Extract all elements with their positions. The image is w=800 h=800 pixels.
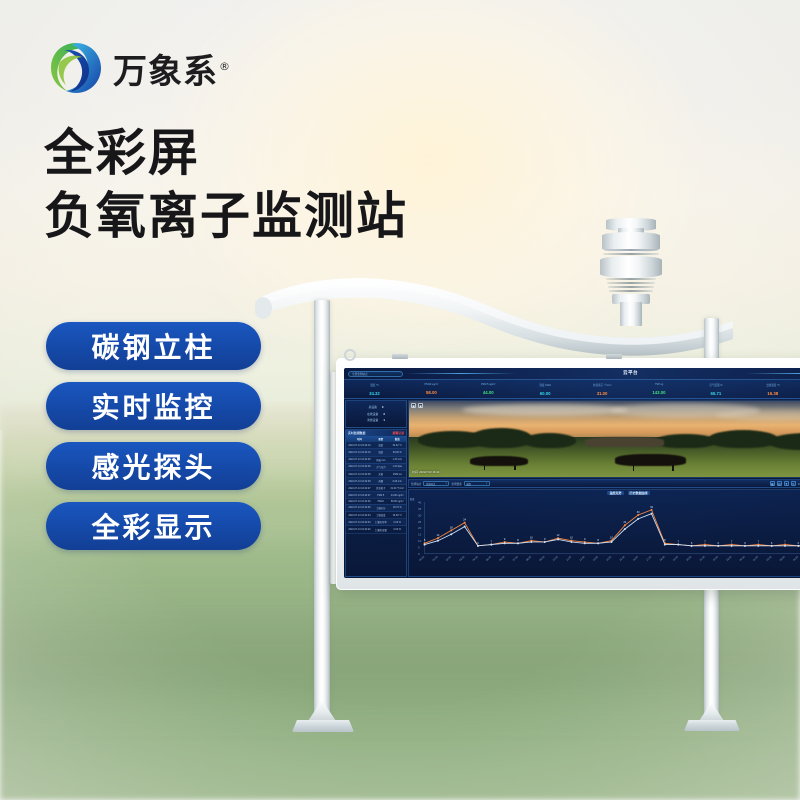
cow-2 bbox=[615, 454, 685, 465]
realtime-data-table: 时间要素数值 2022-07-13 16:42:10温度34.32 ℃2022-… bbox=[346, 436, 406, 534]
metric-1: 温度 ℃34.32 bbox=[346, 381, 403, 398]
chart-point bbox=[504, 542, 506, 544]
realtime-data-panel: 实时监测数据 报警记录 时间要素数值 2022-07-13 16:42:10温度… bbox=[345, 429, 407, 577]
chart-xtick: 10:00 bbox=[552, 555, 559, 562]
headline-block: 全彩屏 负氧离子监测站 bbox=[44, 122, 408, 248]
chart-point-label: 6 bbox=[798, 541, 800, 545]
stat-label-3: 离线设备 bbox=[367, 418, 378, 422]
screen-body: 总设备3在线设备2离线设备1 实时监测数据 报警记录 时间要素数值 2022-0… bbox=[344, 399, 800, 578]
table-row[interactable]: 2022-07-13 16:42:05土壤水分18.70 % bbox=[346, 504, 406, 511]
metric-value-5: 31.00 bbox=[574, 391, 631, 396]
chart-point-label: 6 bbox=[744, 541, 746, 545]
chart-xtick: 01:00 bbox=[432, 555, 439, 562]
table-cell: 雨量 bbox=[373, 478, 389, 485]
chart-xtick: 05:00 bbox=[485, 555, 492, 562]
chart-point bbox=[717, 545, 719, 547]
realtime-data-title: 实时监测数据 bbox=[348, 431, 365, 435]
control-label-element: 监测要素 bbox=[451, 482, 461, 486]
table-cell: 2022-07-13 16:42:08 bbox=[346, 470, 373, 477]
chart-xtick: 17:00 bbox=[646, 555, 653, 562]
table-cell: 2022-07-13 16:42:08 bbox=[346, 478, 373, 485]
feature-pill-2: 实时监控 bbox=[46, 382, 261, 430]
headline-line-1: 全彩屏 bbox=[44, 122, 408, 185]
chart-point-label: 7 bbox=[784, 539, 786, 543]
table-cell: 光照 bbox=[373, 470, 389, 477]
chart-point-label: 24 bbox=[463, 518, 466, 522]
chart-point bbox=[477, 545, 479, 547]
chart-point bbox=[771, 545, 773, 547]
table-cell: 温度 bbox=[373, 442, 389, 449]
tree-4 bbox=[655, 434, 716, 448]
stat-label-1: 总设备 bbox=[369, 405, 377, 409]
table-row[interactable]: 2022-07-13 16:42:08雨量0.00 mm bbox=[346, 478, 406, 485]
chart-point-label: 30 bbox=[637, 510, 640, 514]
chart-point-label: 7 bbox=[704, 539, 706, 543]
control-label-station: 监测站点 bbox=[411, 482, 421, 486]
table-row[interactable]: 2022-07-13 16:42:10温度34.32 ℃ bbox=[346, 442, 406, 449]
chart-point bbox=[584, 542, 586, 544]
stat-value-3: 1 bbox=[383, 418, 385, 422]
chart-point bbox=[450, 529, 452, 531]
chart-xtick: 23:00 bbox=[726, 555, 733, 562]
led-screen: 全部监测站点 云平台 管理员 admin 退出 温度 ℃34.32PM10 ug… bbox=[344, 368, 800, 578]
chart-point bbox=[464, 526, 466, 528]
table-cell: 16.38 ℃ bbox=[389, 512, 406, 519]
feature-pill-4: 全彩显示 bbox=[46, 502, 261, 550]
chart-point bbox=[691, 545, 693, 547]
chart-point-label: 10 bbox=[610, 536, 613, 540]
table-cell: 34.32 ℃ bbox=[389, 442, 406, 449]
chart-xtick: 18:00 bbox=[659, 555, 666, 562]
table-cell: 2022-07-13 16:42:09 bbox=[346, 456, 373, 463]
metric-label-4: 湿度 %RH bbox=[517, 383, 574, 387]
chart-point-label: 8 bbox=[517, 538, 519, 542]
cow-1 bbox=[470, 456, 527, 466]
table-cell: 2022-07-13 16:42:05 bbox=[346, 504, 373, 511]
table-cell: 31.00 个/cm³ bbox=[389, 485, 406, 492]
chart-point bbox=[757, 545, 759, 547]
chart-yaxis-label: 数值 bbox=[410, 497, 414, 501]
chart-xtick: 04:00 bbox=[793, 555, 800, 562]
control-select-station[interactable]: 全部站点 ▾ bbox=[423, 481, 449, 487]
metric-6: TSP ug143.00 bbox=[631, 381, 688, 398]
export-icon[interactable]: ▼ bbox=[784, 481, 789, 486]
metric-value-2: 58.00 bbox=[403, 390, 460, 395]
sensor-louver-6 bbox=[609, 290, 653, 292]
chart-point-label: 34 bbox=[650, 505, 653, 509]
chart-point-label: 10 bbox=[530, 536, 533, 540]
metric-4: 湿度 %RH60.00 bbox=[517, 381, 574, 398]
chart-point bbox=[530, 541, 532, 543]
table-cell: 1.00 kpa bbox=[389, 463, 406, 470]
chart-point-label: 6 bbox=[771, 541, 773, 545]
chart-point-label: 7 bbox=[731, 539, 733, 543]
table-cell: 2022-07-13 16:42:03 bbox=[346, 519, 373, 526]
chart-point bbox=[624, 528, 626, 530]
weather-sensor-radiation-shield bbox=[598, 218, 664, 326]
metric-label-2: PM10 ug/m³ bbox=[403, 383, 460, 386]
list-view-icon[interactable]: ▤ bbox=[777, 481, 782, 486]
table-row[interactable]: 2022-07-13 16:42:09大气压力1.00 kpa bbox=[346, 463, 406, 470]
chart-point-label: 22 bbox=[623, 520, 626, 524]
metric-7: 空气质量 %65.71 bbox=[687, 381, 744, 398]
center-column: ▣ ◉ 时间: 2022/7/13 16:42 山西 潞城 监测站点 全部站点 … bbox=[408, 400, 800, 577]
record-icon[interactable]: ◉ bbox=[418, 403, 423, 408]
chart-xtick: 03:00 bbox=[779, 555, 786, 562]
device-stats-rows: 总设备3在线设备2离线设备1 bbox=[346, 401, 406, 427]
chart-point bbox=[517, 542, 519, 544]
table-cell: 2022-07-13 16:42:07 bbox=[346, 485, 373, 492]
metrics-strip: 温度 ℃34.32PM10 ug/m³58.00PM2.5 ug/m³44.00… bbox=[344, 379, 800, 399]
chart-point bbox=[637, 518, 639, 520]
chart-point bbox=[490, 544, 492, 546]
chart-ytick: 20 bbox=[418, 526, 422, 530]
chart-point-label: 10 bbox=[570, 536, 573, 540]
chart-point-label: 9 bbox=[544, 537, 546, 541]
device-stats-panel: 总设备3在线设备2离线设备1 bbox=[345, 400, 407, 428]
table-cell: 大气压力 bbox=[373, 463, 389, 470]
chart-ytick: 40 bbox=[418, 500, 422, 504]
tree-5 bbox=[708, 430, 778, 448]
chart-point bbox=[624, 524, 626, 526]
left-base-plate bbox=[292, 720, 354, 732]
control-select-element-value: 温度 bbox=[466, 482, 471, 486]
chart-controls: 监测站点 全部站点 ▾ 监测要素 温度 ▾ ▦ ▤ ▼ ↻ 2022-07 bbox=[408, 479, 800, 488]
capture-icon[interactable]: ▣ bbox=[411, 403, 416, 408]
table-cell: 土壤水分 bbox=[373, 504, 389, 511]
table-row[interactable]: 2022-07-13 16:42:04土壤温度16.38 ℃ bbox=[346, 512, 406, 519]
table-row[interactable]: 2022-07-13 16:42:03土壤电导率0.00 % bbox=[346, 519, 406, 526]
chart-xtick: 15:00 bbox=[619, 555, 626, 562]
chart-ytick: 30 bbox=[418, 513, 422, 517]
chart-point bbox=[637, 514, 639, 516]
chart-point bbox=[731, 545, 733, 547]
metric-label-6: TSP ug bbox=[631, 383, 688, 386]
chart-xtick: 02:00 bbox=[766, 555, 773, 562]
camera-feed[interactable]: ▣ ◉ 时间: 2022/7/13 16:42 山西 潞城 bbox=[408, 400, 800, 478]
metric-label-7: 空气质量 % bbox=[687, 383, 744, 387]
chart-xtick: 08:00 bbox=[526, 555, 533, 562]
feature-pill-3: 感光探头 bbox=[46, 442, 261, 490]
table-row[interactable]: 2022-07-13 16:42:09风速 m/s1.30 m/s bbox=[346, 456, 406, 463]
chart-ytick: 0 bbox=[418, 552, 420, 556]
chart-plot-area: 数值 0510152025303540812182467981091210981… bbox=[409, 496, 800, 576]
chart-xtick: 22:00 bbox=[712, 555, 719, 562]
metric-value-4: 60.00 bbox=[517, 391, 574, 396]
chart-tag-1: 温度走势 bbox=[607, 491, 623, 495]
table-cell: 1.30 m/s bbox=[389, 456, 406, 463]
chart-xtick: 03:00 bbox=[459, 555, 466, 562]
mount-tab-1 bbox=[392, 354, 408, 359]
device-stat-row-2: 在线设备2 bbox=[346, 411, 406, 418]
chart-point-label: 9 bbox=[584, 537, 586, 541]
screen-title: 云平台 bbox=[344, 370, 800, 376]
chart-point bbox=[704, 545, 706, 547]
chart-point-label: 6 bbox=[477, 541, 479, 545]
metric-value-6: 143.00 bbox=[631, 390, 688, 395]
chart-point-label: 8 bbox=[664, 538, 666, 542]
globe-swirl-logo-icon bbox=[48, 40, 104, 96]
chart-xtick: 14:00 bbox=[606, 555, 613, 562]
left-pole bbox=[314, 300, 330, 720]
metric-value-7: 65.71 bbox=[687, 391, 744, 396]
screen-header: 全部监测站点 云平台 管理员 admin 退出 bbox=[344, 368, 800, 379]
chart-point bbox=[744, 545, 746, 547]
control-select-element[interactable]: 温度 ▾ bbox=[464, 481, 490, 487]
table-cell: 0.00 % bbox=[389, 526, 406, 533]
metric-3: PM2.5 ug/m³44.00 bbox=[460, 381, 517, 398]
chart-xtick: 19:00 bbox=[672, 555, 679, 562]
headline-line-2: 负氧离子监测站 bbox=[44, 185, 408, 248]
chart-point bbox=[784, 545, 786, 547]
chevron-down-icon-2: ▾ bbox=[486, 482, 487, 485]
chart-point bbox=[797, 545, 799, 547]
metric-label-5: 负氧离子 个/cm³ bbox=[574, 383, 631, 387]
chart-xtick: 04:00 bbox=[472, 555, 479, 562]
chart-xtick: 00:00 bbox=[419, 555, 426, 562]
chart-xtick: 02:00 bbox=[445, 555, 452, 562]
video-overlay-icons: ▣ ◉ bbox=[411, 403, 423, 408]
chart-point bbox=[557, 538, 559, 540]
sensor-stem bbox=[620, 302, 642, 326]
chart-ytick: 15 bbox=[418, 533, 422, 537]
metric-value-1: 34.32 bbox=[346, 391, 403, 396]
chart-xtick: 20:00 bbox=[686, 555, 693, 562]
right-base-plate bbox=[684, 720, 740, 731]
cow-1-leg-a bbox=[484, 465, 485, 470]
chart-point bbox=[570, 541, 572, 543]
feature-pill-list: 碳钢立柱实时监控感光探头全彩显示 bbox=[46, 322, 261, 550]
stat-value-2: 2 bbox=[383, 412, 385, 416]
table-cell: 风速 m/s bbox=[373, 456, 389, 463]
table-cell: 2022-07-13 16:42:09 bbox=[346, 463, 373, 470]
chart-point-label: 7 bbox=[491, 539, 493, 543]
chart-point-label: 7 bbox=[677, 539, 679, 543]
video-timestamp: 时间: 2022/7/13 16:42 bbox=[412, 470, 439, 474]
table-row[interactable]: 2022-07-13 16:42:07负氧离子31.00 个/cm³ bbox=[346, 485, 406, 492]
table-cell: 60.00 % bbox=[389, 449, 406, 456]
chart-ytick: 5 bbox=[418, 545, 420, 549]
table-cell: 湿度 bbox=[373, 449, 389, 456]
mount-tab-2 bbox=[606, 354, 622, 359]
chart-xtick: 00:00 bbox=[739, 555, 746, 562]
chart-ytick: 25 bbox=[418, 520, 422, 524]
chart-xtick: 21:00 bbox=[699, 555, 706, 562]
device-stat-row-3: 离线设备1 bbox=[346, 417, 406, 424]
chart-xtick: 16:00 bbox=[632, 555, 639, 562]
table-cell: 1530 lux bbox=[389, 470, 406, 477]
metric-2: PM10 ug/m³58.00 bbox=[403, 381, 460, 398]
chart-point bbox=[677, 544, 679, 546]
metric-value-8: 16.38 bbox=[744, 391, 800, 396]
chart-point bbox=[664, 544, 666, 546]
chart-point bbox=[464, 522, 466, 524]
chart-point bbox=[437, 540, 439, 542]
table-cell: 18.70 % bbox=[389, 504, 406, 511]
chart-point-label: 12 bbox=[436, 533, 439, 537]
metric-value-3: 44.00 bbox=[460, 390, 517, 395]
chart-point bbox=[597, 542, 599, 544]
metric-label-1: 温度 ℃ bbox=[346, 383, 403, 387]
tree-3 bbox=[523, 433, 576, 448]
table-cell: 2022-07-13 16:42:02 bbox=[346, 526, 373, 533]
chart-tag-2: 历史数据曲线 bbox=[628, 491, 650, 495]
table-cell: 土壤温度 bbox=[373, 512, 389, 519]
table-cell: 0.00 % bbox=[389, 519, 406, 526]
table-body: 2022-07-13 16:42:10温度34.32 ℃2022-07-13 1… bbox=[346, 442, 406, 533]
control-select-station-value: 全部站点 bbox=[426, 482, 436, 486]
display-enclosure: 全部监测站点 云平台 管理员 admin 退出 温度 ℃34.32PM10 ug… bbox=[336, 358, 800, 590]
table-cell: 2022-07-13 16:42:10 bbox=[346, 449, 373, 456]
chart-ytick: 35 bbox=[418, 507, 422, 511]
metric-5: 负氧离子 个/cm³31.00 bbox=[574, 381, 631, 398]
chart-point-label: 12 bbox=[557, 533, 560, 537]
metric-label-8: 土壤温度 ℃ bbox=[744, 383, 800, 387]
chart-xtick: 09:00 bbox=[539, 555, 546, 562]
sensor-louver-3 bbox=[606, 278, 656, 280]
alarm-records-link[interactable]: 报警记录 bbox=[392, 431, 404, 435]
metric-8: 土壤温度 ℃16.38 bbox=[744, 381, 800, 398]
metric-label-3: PM2.5 ug/m³ bbox=[460, 383, 517, 386]
chart-xtick: 13:00 bbox=[592, 555, 599, 562]
sensor-louver-5 bbox=[608, 286, 654, 288]
sensor-body-mid bbox=[600, 256, 662, 278]
table-cell: 2022-07-13 16:42:10 bbox=[346, 442, 373, 449]
registered-mark: ® bbox=[219, 60, 231, 73]
refresh-icon[interactable]: ↻ bbox=[791, 481, 796, 486]
chart-point bbox=[610, 541, 612, 543]
chart-point bbox=[651, 513, 653, 515]
device-stat-row-1: 总设备3 bbox=[346, 404, 406, 411]
chart-point-label: 7 bbox=[758, 539, 760, 543]
chart-point-label: 18 bbox=[450, 525, 453, 529]
cow-2-leg-a bbox=[633, 465, 634, 471]
chart-point bbox=[651, 509, 653, 511]
chart-xtick: 11:00 bbox=[566, 555, 573, 562]
chart-point bbox=[450, 533, 452, 535]
cow-2-leg-b bbox=[672, 465, 673, 471]
table-cell: 土壤电导率 bbox=[373, 519, 389, 526]
chart-point-label: 8 bbox=[597, 538, 599, 542]
chart-point-label: 6 bbox=[718, 541, 720, 545]
chart-xtick: 12:00 bbox=[579, 555, 586, 562]
sensor-louver-4 bbox=[607, 282, 655, 284]
table-cell: 土壤氮含量 bbox=[373, 526, 389, 533]
table-cell: 2022-07-13 16:42:04 bbox=[346, 512, 373, 519]
brand-lockup: 万象系® bbox=[48, 40, 231, 96]
chart-point bbox=[424, 544, 426, 546]
chart-ytick: 10 bbox=[418, 539, 422, 543]
table-row[interactable]: 2022-07-13 16:42:10湿度60.00 % bbox=[346, 449, 406, 456]
chart-point bbox=[544, 541, 546, 543]
sensor-louver-2 bbox=[603, 253, 659, 255]
chart-xtick: 01:00 bbox=[752, 555, 759, 562]
left-eye-hook-icon bbox=[344, 349, 356, 361]
table-row[interactable]: 2022-07-13 16:42:02土壤氮含量0.00 % bbox=[346, 526, 406, 533]
chart-xtick: 07:00 bbox=[512, 555, 519, 562]
feature-pill-1: 碳钢立柱 bbox=[46, 322, 261, 370]
chart-point-label: 8 bbox=[424, 538, 426, 542]
table-cell: 负氧离子 bbox=[373, 485, 389, 492]
grid-view-icon[interactable]: ▦ bbox=[770, 481, 775, 486]
hillside bbox=[585, 437, 664, 446]
brand-name: 万象系® bbox=[113, 44, 231, 93]
stat-value-1: 3 bbox=[382, 405, 384, 409]
chart-point-label: 6 bbox=[691, 541, 693, 545]
chart-point-label: 9 bbox=[504, 537, 506, 541]
left-column: 总设备3在线设备2离线设备1 实时监测数据 报警记录 时间要素数值 2022-0… bbox=[345, 400, 407, 577]
table-row[interactable]: 2022-07-13 16:42:08光照1530 lux bbox=[346, 470, 406, 477]
chart-point bbox=[437, 537, 439, 539]
sensor-louver-1 bbox=[604, 249, 658, 251]
chevron-down-icon: ▾ bbox=[446, 482, 447, 485]
trend-line-chart: 0510152025303540812182467981091210981022… bbox=[418, 497, 800, 569]
cow-1-leg-b bbox=[514, 465, 515, 470]
table-cell: 0.00 mm bbox=[389, 478, 406, 485]
trend-chart-panel: 温度走势历史数据曲线 数值 05101520253035408121824679… bbox=[408, 489, 800, 577]
stat-label-2: 在线设备 bbox=[367, 412, 378, 416]
brand-name-text: 万象系 bbox=[113, 52, 218, 92]
chart-xtick: 06:00 bbox=[499, 555, 506, 562]
